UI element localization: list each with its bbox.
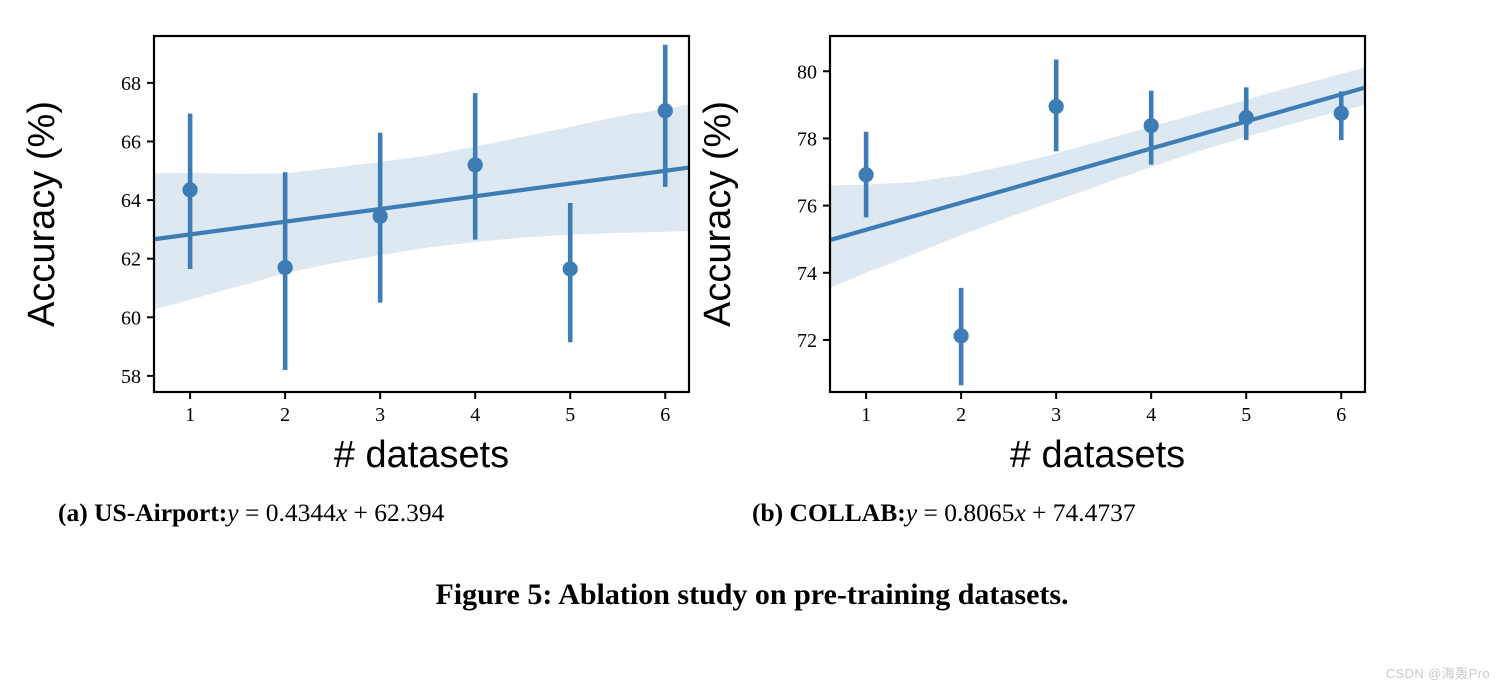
data-point bbox=[563, 261, 578, 276]
data-point bbox=[1239, 110, 1254, 125]
data-point bbox=[859, 167, 874, 182]
subcaption-a-eq-tail: + 62.394 bbox=[347, 498, 444, 527]
confidence-band bbox=[830, 67, 1365, 288]
y-tick-label: 72 bbox=[797, 330, 817, 352]
data-point bbox=[1334, 106, 1349, 121]
data-point bbox=[373, 209, 388, 224]
x-tick-label: 1 bbox=[861, 404, 871, 426]
x-tick-label: 1 bbox=[185, 404, 195, 426]
x-tick-label: 5 bbox=[565, 404, 575, 426]
x-tick-label: 4 bbox=[1146, 404, 1156, 426]
subcaption-a-eq-y: y bbox=[227, 498, 238, 527]
data-point bbox=[278, 260, 293, 275]
x-tick-label: 4 bbox=[470, 404, 480, 426]
x-tick-label: 2 bbox=[956, 404, 966, 426]
panels-row: 123456586062646668# datasetsAccuracy (%)… bbox=[0, 0, 1504, 490]
x-tick-label: 6 bbox=[660, 404, 670, 426]
subcaption-b-label: (b) COLLAB: bbox=[752, 498, 906, 527]
y-tick-label: 80 bbox=[797, 61, 817, 83]
y-tick-label: 58 bbox=[121, 366, 141, 388]
subcaption-b-eq-y: y bbox=[906, 498, 917, 527]
y-tick-label: 66 bbox=[121, 131, 141, 153]
subcaption-b: (b) COLLAB:y = 0.8065x + 74.4737 bbox=[752, 498, 1136, 528]
subcaption-a-eq-rest: = 0.4344 bbox=[239, 498, 336, 527]
chart-panel-collab: 1234567274767880# datasetsAccuracy (%) bbox=[686, 0, 1426, 490]
data-point bbox=[1049, 99, 1064, 114]
x-tick-label: 5 bbox=[1241, 404, 1251, 426]
figure-container: 123456586062646668# datasetsAccuracy (%)… bbox=[0, 0, 1504, 688]
y-tick-label: 68 bbox=[121, 73, 141, 95]
subcaption-b-eq-x: x bbox=[1014, 498, 1025, 527]
subcaption-row: (a) US-Airport:y = 0.4344x + 62.394 (b) … bbox=[0, 498, 1504, 556]
data-point bbox=[954, 328, 969, 343]
y-tick-label: 74 bbox=[797, 263, 817, 285]
chart-svg-collab: 1234567274767880# datasetsAccuracy (%) bbox=[686, 0, 1426, 490]
subcaption-b-eq-tail: + 74.4737 bbox=[1026, 498, 1136, 527]
y-tick-label: 64 bbox=[121, 190, 141, 212]
subcaption-b-eq-rest: = 0.8065 bbox=[917, 498, 1014, 527]
y-tick-label: 76 bbox=[797, 196, 817, 218]
data-point bbox=[183, 182, 198, 197]
x-tick-label: 3 bbox=[1051, 404, 1061, 426]
x-axis-label: # datasets bbox=[334, 434, 509, 476]
subcaption-a: (a) US-Airport:y = 0.4344x + 62.394 bbox=[58, 498, 444, 528]
x-tick-label: 2 bbox=[280, 404, 290, 426]
y-tick-label: 78 bbox=[797, 128, 817, 150]
chart-panel-us-airport: 123456586062646668# datasetsAccuracy (%) bbox=[10, 0, 750, 490]
data-point bbox=[468, 157, 483, 172]
watermark-text: CSDN @海轰Pro bbox=[1386, 663, 1490, 682]
confidence-band bbox=[154, 105, 689, 310]
regression-line bbox=[830, 88, 1365, 240]
figure-caption: Figure 5: Ablation study on pre-training… bbox=[0, 578, 1504, 612]
x-tick-label: 6 bbox=[1336, 404, 1346, 426]
subcaption-a-label: (a) US-Airport: bbox=[58, 498, 227, 527]
chart-svg-us-airport: 123456586062646668# datasetsAccuracy (%) bbox=[10, 0, 750, 490]
y-axis-label: Accuracy (%) bbox=[697, 101, 739, 327]
data-point bbox=[658, 103, 673, 118]
y-axis-label: Accuracy (%) bbox=[21, 101, 63, 327]
data-point bbox=[1144, 118, 1159, 133]
y-tick-label: 60 bbox=[121, 307, 141, 329]
x-axis-label: # datasets bbox=[1010, 434, 1185, 476]
x-tick-label: 3 bbox=[375, 404, 385, 426]
subcaption-a-eq-x: x bbox=[336, 498, 347, 527]
y-tick-label: 62 bbox=[121, 249, 141, 271]
